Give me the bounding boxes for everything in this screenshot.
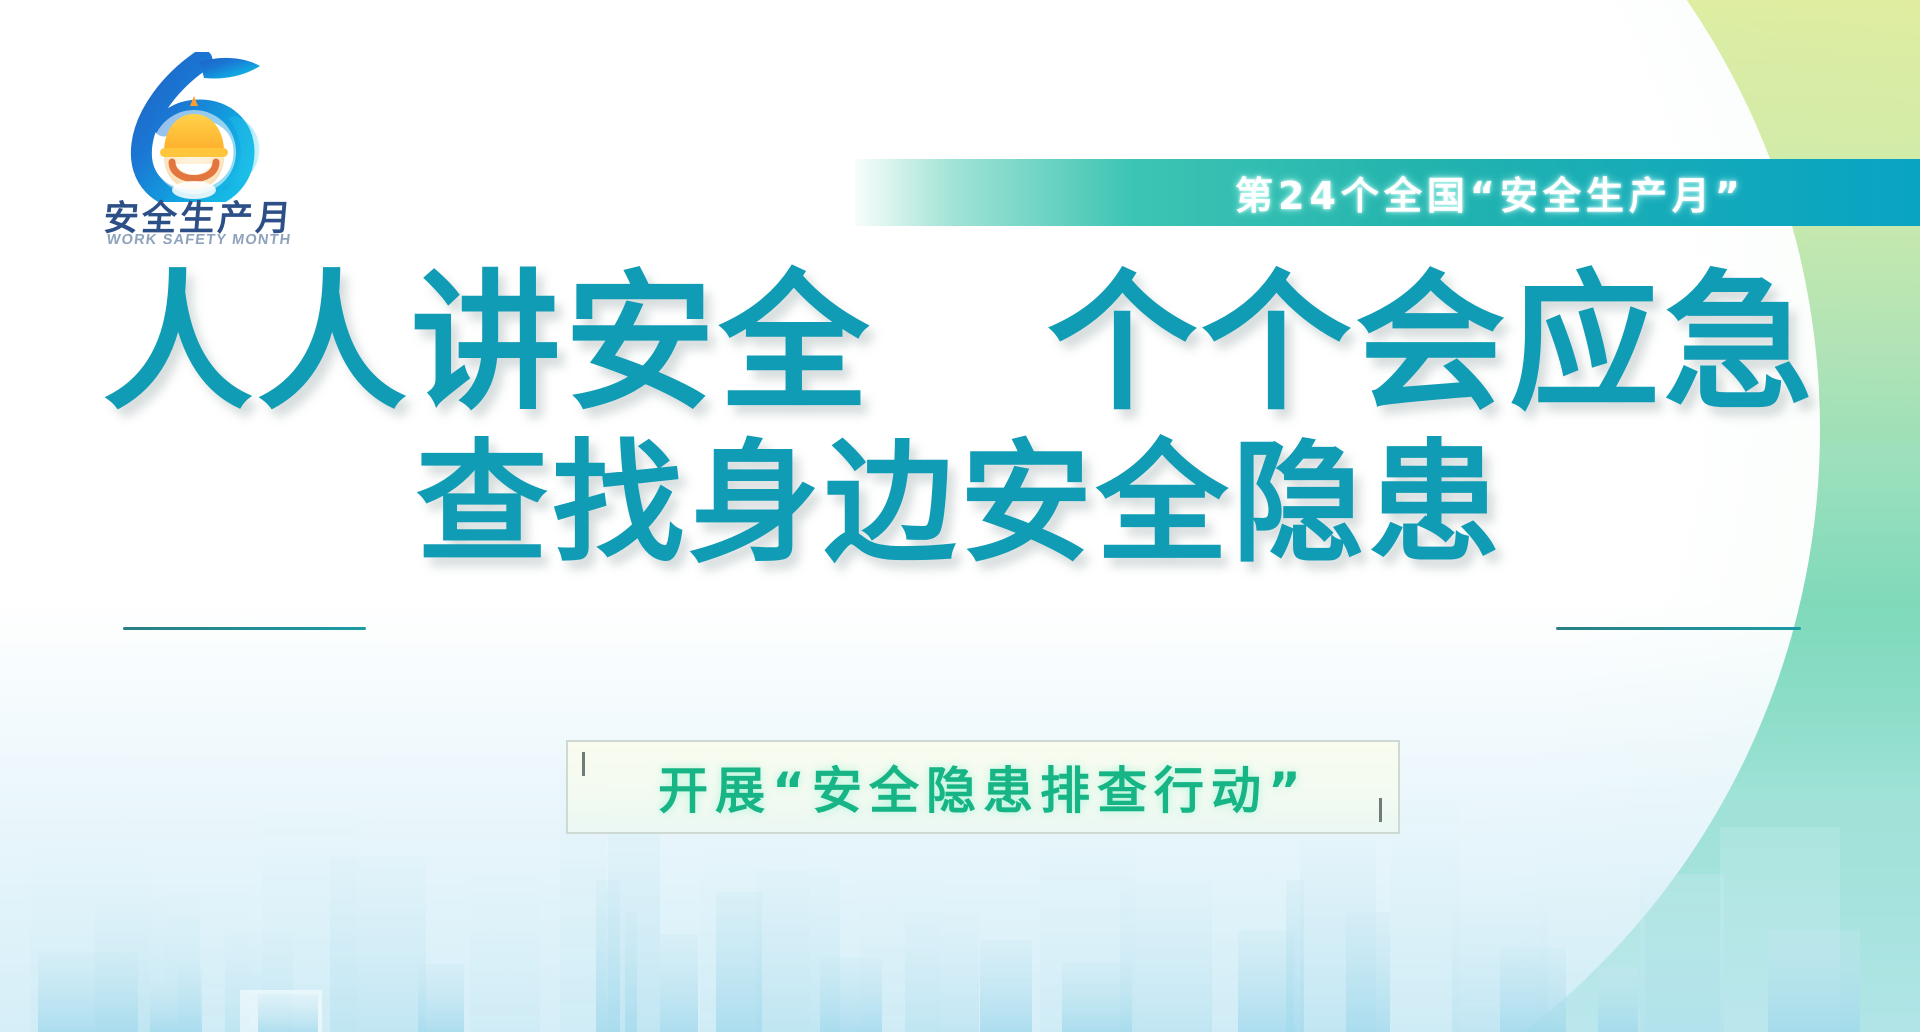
work-safety-month-logo: 安全生产月 WORK SAFETY MONTH	[84, 52, 314, 252]
logo-english-title: WORK SAFETY MONTH	[91, 232, 307, 248]
top-banner-label: 第24个全国“安全生产月”	[1235, 165, 1745, 220]
logo-numeral-six-icon	[84, 52, 314, 202]
divider-line-left	[123, 627, 366, 630]
sub-banner-label: 开展“安全隐患排查行动”	[658, 751, 1308, 823]
top-banner: 第24个全国“安全生产月”	[855, 159, 1920, 226]
sub-banner-box: 开展“安全隐患排查行动”	[566, 740, 1400, 834]
headline-block: 人人讲安全 个个会应急 查找身边安全隐患	[0, 268, 1920, 575]
safety-poster: 安全生产月 WORK SAFETY MONTH 第24个全国“安全生产月” 人人…	[0, 0, 1920, 1032]
corner-tick-top-left	[582, 752, 585, 776]
corner-tick-bottom-right	[1379, 798, 1382, 822]
headline-line1-part2: 个个会应急	[1047, 257, 1817, 431]
divider-line-right	[1556, 627, 1801, 630]
headline-line-2-wrap: 查找身边安全隐患	[0, 435, 1920, 575]
headline-line-1: 人人讲安全 个个会应急	[0, 268, 1920, 421]
headline-line-2: 查找身边安全隐患	[0, 435, 1920, 574]
headline-line1-part1: 人人讲安全	[103, 257, 873, 431]
